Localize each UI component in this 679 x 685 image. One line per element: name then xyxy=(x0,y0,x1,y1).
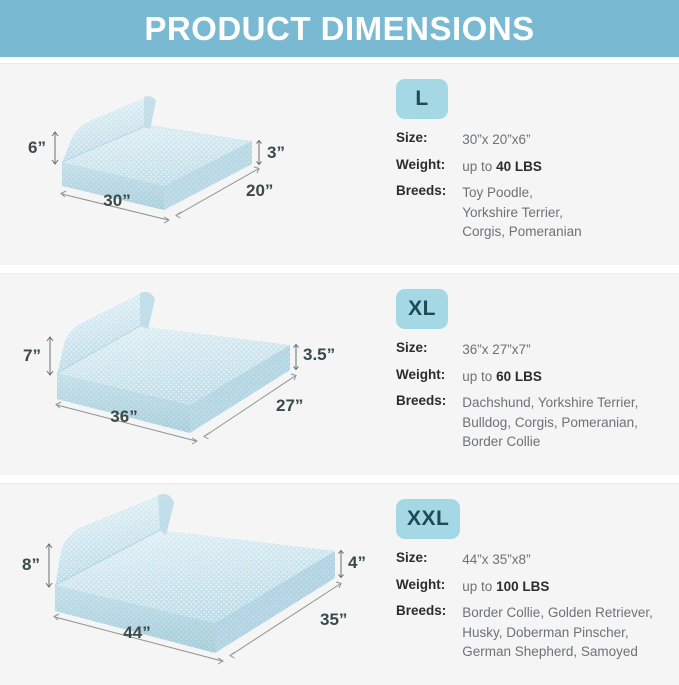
size-info-xl: XL Size: 36”x 27”x7” Weight: up to 60 LB… xyxy=(380,273,679,475)
dimension-base-height-label-l: 3” xyxy=(267,143,285,162)
breed-line: Yorkshire Terrier, xyxy=(462,203,581,223)
dimension-height-label-xxl: 8” xyxy=(22,555,40,574)
size-section-xxl: 8” 4” 44” xyxy=(0,483,679,685)
spec-row-weight: Weight: up to 60 LBS xyxy=(396,367,638,394)
breed-line: Toy Poodle, xyxy=(462,183,581,203)
dimension-width-label-xxl: 35” xyxy=(320,610,347,629)
bed-mattress-l xyxy=(60,96,253,210)
product-illustration-xxl: 8” 4” 44” xyxy=(0,483,380,685)
page-title: PRODUCT DIMENSIONS xyxy=(144,12,534,45)
spec-row-breeds: Breeds: Toy Poodle, Yorkshire Terrier, C… xyxy=(396,183,582,249)
dimension-base-height-l xyxy=(257,141,262,165)
spec-row-breeds: Breeds: Dachshund, Yorkshire Terrier, Bu… xyxy=(396,393,638,459)
spec-value-size: 36”x 27”x7” xyxy=(462,340,638,367)
page-header-banner: PRODUCT DIMENSIONS xyxy=(0,0,679,57)
spec-value-weight: up to 40 LBS xyxy=(462,157,581,184)
spec-label-size: Size: xyxy=(396,130,462,157)
spec-row-size: Size: 36”x 27”x7” xyxy=(396,340,638,367)
dimension-width-label-xl: 27” xyxy=(276,396,303,415)
spec-table-xl: Size: 36”x 27”x7” Weight: up to 60 LBS B… xyxy=(396,340,638,459)
size-sections-list: 6” 3” 30” xyxy=(0,63,679,685)
dimension-length-label-xxl: 44” xyxy=(123,623,150,642)
spec-label-weight: Weight: xyxy=(396,157,462,184)
dimension-base-height-label-xl: 3.5” xyxy=(303,345,335,364)
weight-prefix: up to xyxy=(462,579,496,594)
spec-label-size: Size: xyxy=(396,340,462,367)
product-illustration-l: 6” 3” 30” xyxy=(0,63,380,265)
size-badge-xl: XL xyxy=(396,289,448,329)
breed-line: Border Collie, Golden Retriever, xyxy=(462,603,653,623)
spec-value-weight: up to 100 LBS xyxy=(462,577,653,604)
breed-line: Dachshund, Yorkshire Terrier, xyxy=(462,393,638,413)
spec-value-breeds: Border Collie, Golden Retriever, Husky, … xyxy=(462,603,653,669)
spec-label-size: Size: xyxy=(396,550,462,577)
dimension-height-label-xl: 7” xyxy=(23,346,41,365)
dimension-height-xl xyxy=(47,337,53,375)
breed-line: Corgis, Pomeranian xyxy=(462,222,581,242)
breed-line: Border Collie xyxy=(462,432,638,452)
dimension-base-height-label-xxl: 4” xyxy=(348,553,366,572)
dimension-length-label-xl: 36” xyxy=(110,407,137,426)
spec-label-breeds: Breeds: xyxy=(396,183,462,249)
size-info-l: L Size: 30”x 20”x6” Weight: up to 40 LBS… xyxy=(380,63,679,265)
spec-value-size: 30”x 20”x6” xyxy=(462,130,581,157)
spec-value-weight: up to 60 LBS xyxy=(462,367,638,394)
dimension-width-label-l: 20” xyxy=(246,181,273,200)
dimension-base-height-xxl xyxy=(339,551,344,578)
size-badge-xxl: XXL xyxy=(396,499,460,539)
weight-value: 100 LBS xyxy=(496,579,549,594)
weight-value: 60 LBS xyxy=(496,369,542,384)
product-illustration-xl: 7” 3.5” 36” xyxy=(0,273,380,475)
breed-line: German Shepherd, Samoyed xyxy=(462,642,653,662)
dimension-height-xxl xyxy=(46,544,52,587)
spec-label-weight: Weight: xyxy=(396,577,462,604)
spec-value-breeds: Toy Poodle, Yorkshire Terrier, Corgis, P… xyxy=(462,183,581,249)
size-section-xl: 7” 3.5” 36” xyxy=(0,273,679,475)
dimension-height-label-l: 6” xyxy=(28,138,46,157)
spec-row-weight: Weight: up to 40 LBS xyxy=(396,157,582,184)
spec-label-breeds: Breeds: xyxy=(396,393,462,459)
size-section-l: 6” 3” 30” xyxy=(0,63,679,265)
spec-table-xxl: Size: 44”x 35”x8” Weight: up to 100 LBS … xyxy=(396,550,653,669)
spec-row-breeds: Breeds: Border Collie, Golden Retriever,… xyxy=(396,603,653,669)
spec-value-size: 44”x 35”x8” xyxy=(462,550,653,577)
breed-line: Husky, Doberman Pinscher, xyxy=(462,623,653,643)
size-badge-l: L xyxy=(396,79,448,119)
bed-mattress-xl xyxy=(57,292,290,433)
spec-row-size: Size: 30”x 20”x6” xyxy=(396,130,582,157)
size-info-xxl: XXL Size: 44”x 35”x8” Weight: up to 100 … xyxy=(380,483,679,685)
dimension-base-height-xl xyxy=(294,345,299,370)
bed-mattress-xxl xyxy=(55,494,335,653)
breed-line: Bulldog, Corgis, Pomeranian, xyxy=(462,413,638,433)
dimension-length-label-l: 30” xyxy=(103,191,130,210)
weight-prefix: up to xyxy=(462,369,496,384)
spec-value-breeds: Dachshund, Yorkshire Terrier, Bulldog, C… xyxy=(462,393,638,459)
spec-row-size: Size: 44”x 35”x8” xyxy=(396,550,653,577)
weight-value: 40 LBS xyxy=(496,159,542,174)
spec-label-breeds: Breeds: xyxy=(396,603,462,669)
spec-row-weight: Weight: up to 100 LBS xyxy=(396,577,653,604)
spec-table-l: Size: 30”x 20”x6” Weight: up to 40 LBS B… xyxy=(396,130,582,249)
dimension-height-l xyxy=(52,132,58,164)
spec-label-weight: Weight: xyxy=(396,367,462,394)
weight-prefix: up to xyxy=(462,159,496,174)
